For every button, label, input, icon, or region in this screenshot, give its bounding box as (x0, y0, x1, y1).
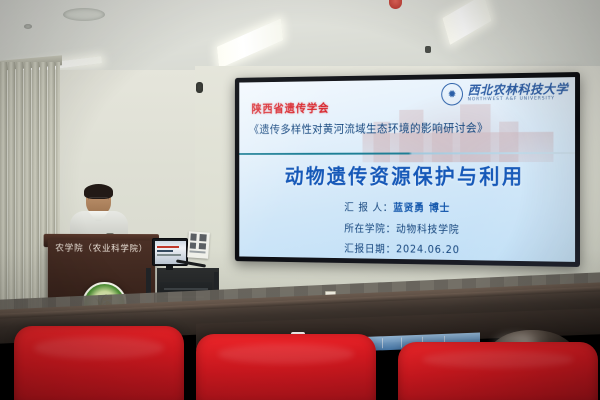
light-panel-icon (217, 18, 283, 68)
smoke-detector-icon (389, 0, 402, 9)
podium-label: 农学院（农业科学院） (48, 241, 155, 254)
red-chair[interactable] (398, 342, 598, 400)
ceiling-vent (63, 8, 105, 21)
university-logo: ✹ 西北农林科技大学 NORTHWEST A&F UNIVERSITY (441, 81, 568, 105)
red-chair[interactable] (196, 334, 376, 400)
college-row: 所在学院：动物科技学院 (344, 220, 459, 236)
slide-main-title: 动物遗传资源保护与利用 (239, 161, 575, 191)
ceiling-speaker-icon (24, 24, 32, 29)
presentation-slide: ✹ 西北农林科技大学 NORTHWEST A&F UNIVERSITY 陕西省遗… (239, 77, 575, 262)
document-stand (187, 231, 210, 258)
presenter-details: 汇 报 人：蓝贤勇 博士 所在学院：动物科技学院 汇报日期：2024.06.20 (344, 200, 459, 257)
conference-title: 《遗传多样性对黄河流域生态环境的影响研讨会》 (249, 120, 489, 137)
university-name-cn: 西北农林科技大学 (468, 83, 568, 97)
date-row: 汇报日期：2024.06.20 (344, 241, 459, 257)
red-chair[interactable] (14, 326, 184, 400)
ceiling-camera-icon (425, 46, 431, 53)
projection-screen[interactable]: ✹ 西北农林科技大学 NORTHWEST A&F UNIVERSITY 陕西省遗… (235, 72, 580, 267)
emblem-glyph: ✹ (448, 89, 457, 100)
eyeglasses-icon (88, 197, 109, 203)
presenter-row: 汇 报 人：蓝贤勇 博士 (344, 200, 459, 215)
university-name-en: NORTHWEST A&F UNIVERSITY (468, 97, 568, 103)
conference-room-photo: ✹ 西北农林科技大学 NORTHWEST A&F UNIVERSITY 陕西省遗… (0, 0, 600, 400)
university-emblem-icon: ✹ (441, 83, 463, 106)
wall-speaker-icon (196, 82, 203, 93)
society-label: 陕西省遗传学会 (252, 100, 330, 116)
light-panel-icon (442, 0, 491, 45)
